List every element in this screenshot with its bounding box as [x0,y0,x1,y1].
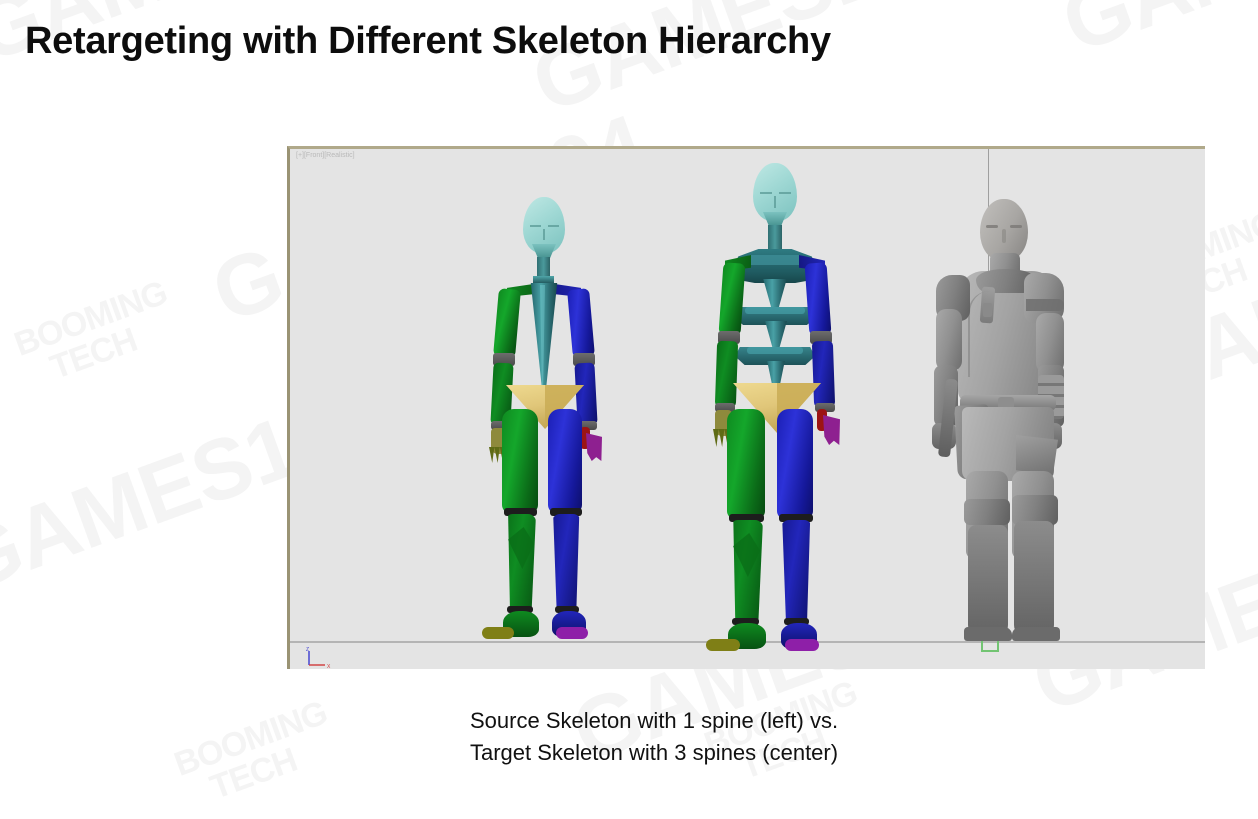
character-pauldron-edge [1026,299,1064,311]
face-detail [774,196,776,208]
bone-toe-right[interactable] [785,639,819,651]
axis-gizmo: Z X [305,647,335,669]
character-face-shadow [1010,225,1022,228]
bone-spine-01-highlight [747,347,803,354]
bone-upperarm-right[interactable] [567,288,595,358]
watermark-booming: BOOMING [170,696,331,782]
face-detail [548,225,559,227]
bone-spine-02-highlight [745,307,805,314]
figure-target-skeleton[interactable] [685,163,885,643]
character-kneepad-left [964,499,1010,525]
watermark-games104: GAMES104 [1050,0,1258,73]
bone-toe-left[interactable] [482,627,514,639]
bone-thigh-right[interactable] [548,409,582,513]
character-boot-sole-right [1012,627,1060,641]
bone-toe-right[interactable] [556,627,588,639]
bone-thigh-right[interactable] [777,409,813,519]
bone-thigh-left[interactable] [727,409,765,519]
viewport-canvas[interactable]: Z X [290,149,1205,669]
bone-toe-left[interactable] [706,639,740,651]
face-detail [760,192,772,194]
character-face-shadow [986,225,998,228]
bone-forearm-left[interactable] [715,341,738,408]
watermark-tech: TECH [46,307,183,385]
bone-calf-right[interactable] [552,514,581,610]
bone-forearm-right[interactable] [812,341,835,408]
character-tasset-right [1016,435,1058,475]
caption-line-1: Source Skeleton with 1 spine (left) vs. [470,705,1070,737]
viewport-panel[interactable]: [+][Front][Realistic] [287,146,1205,669]
bone-calf-right[interactable] [781,520,812,622]
face-detail [779,192,791,194]
figure-shaded-character[interactable] [920,199,1100,643]
character-boot-sole-left [964,627,1012,641]
watermark-tech: TECH [206,727,343,805]
character-tunic-seam [968,291,1012,377]
figure-source-skeleton[interactable] [460,197,640,643]
character-upperarm-left [936,309,962,371]
bone-chest-highlight [747,255,803,265]
bone-neck[interactable] [768,225,782,251]
bone-fingers-right[interactable] [586,433,602,461]
face-detail [543,229,545,240]
bone-upperarm-right[interactable] [805,262,832,335]
bone-upperarm-left[interactable] [719,262,746,335]
bone-spine-link-02[interactable] [763,321,789,349]
character-boot-right [1014,521,1054,637]
bone-neck-collar[interactable] [533,276,554,284]
svg-text:Z: Z [306,647,309,653]
caption-line-2: Target Skeleton with 3 spines (center) [470,737,1070,769]
page-title: Retargeting with Different Skeleton Hier… [25,20,831,63]
bone-spine-link-01[interactable] [761,279,789,309]
bone-thigh-left[interactable] [502,409,538,513]
slide-caption: Source Skeleton with 1 spine (left) vs. … [470,705,1070,769]
character-boot-left [968,525,1008,637]
character-face-shadow [1002,229,1006,243]
character-upperarm-right [1036,313,1064,373]
bone-fingers-right[interactable] [823,415,840,445]
bone-upperarm-left[interactable] [493,288,521,358]
watermark-booming: BOOMING [10,276,171,362]
svg-text:X: X [327,664,331,669]
face-detail [530,225,541,227]
